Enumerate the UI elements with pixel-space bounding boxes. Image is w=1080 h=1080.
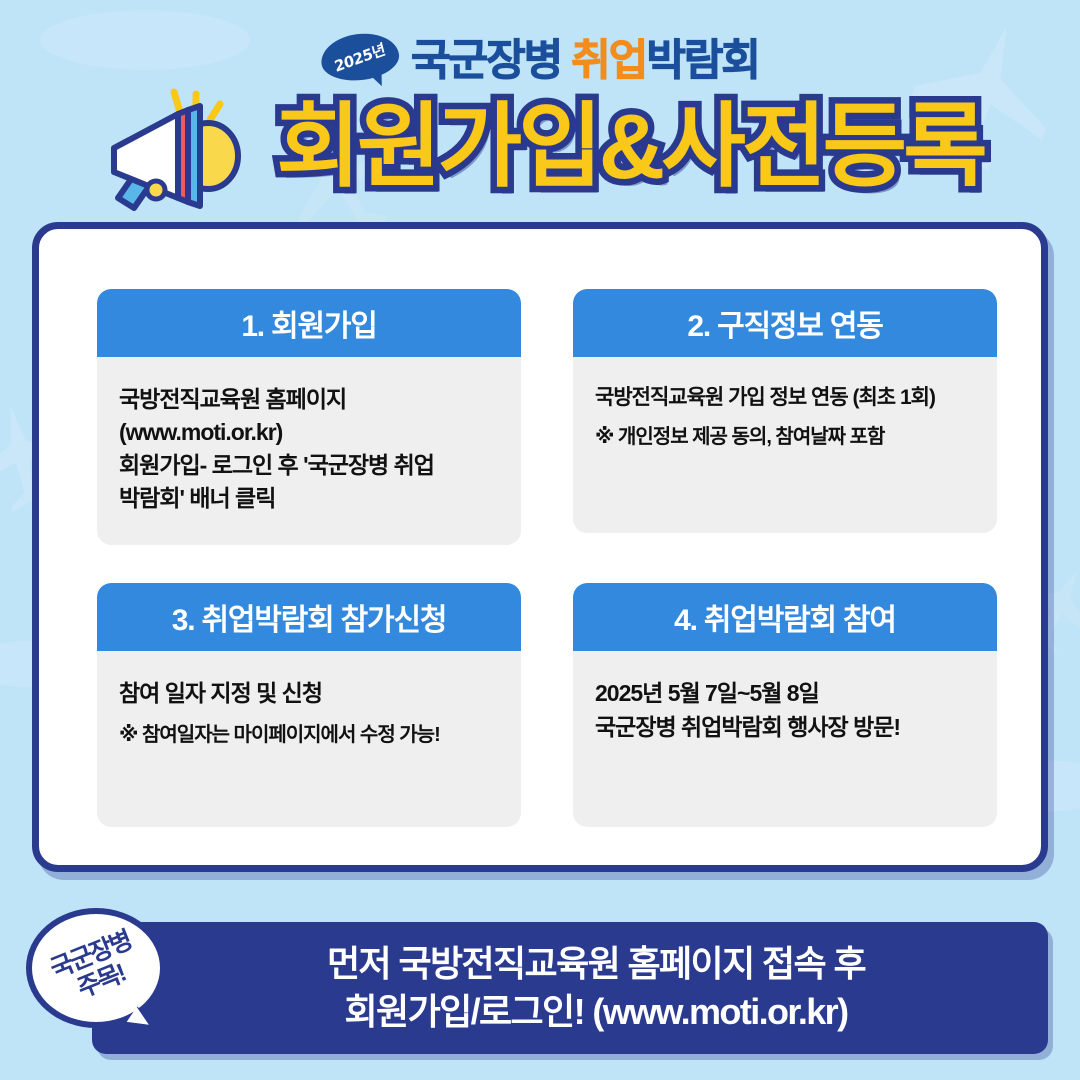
step-card-3-body: 참여 일자 지정 및 신청 ※ 참여일자는 마이페이지에서 수정 가능! — [97, 651, 521, 827]
year-badge-bubble: 2025년 — [318, 29, 401, 84]
step-card-4: 4. 취업박람회 참여 2025년 5월 7일~5월 8일 국군장병 취업박람회… — [573, 583, 997, 827]
event-name-prefix: 국군장병 — [411, 37, 571, 85]
step-card-2: 2. 구직정보 연동 국방전직교육원 가입 정보 연동 (최초 1회) ※ 개인… — [573, 289, 997, 545]
cta-banner-line-1: 먼저 국방전직교육원 홈페이지 접속 후 — [275, 940, 865, 988]
step-card-1-line-3: 회원가입- 로그인 후 '국군장병 취업 — [119, 449, 499, 482]
steps-grid: 1. 회원가입 국방전직교육원 홈페이지 (www.moti.or.kr) 회원… — [97, 289, 997, 827]
step-card-2-body: 국방전직교육원 가입 정보 연동 (최초 1회) ※ 개인정보 제공 동의, 참… — [573, 357, 997, 533]
page-title: 회원가입&사전등록 — [276, 99, 984, 196]
step-card-2-line-1: 국방전직교육원 가입 정보 연동 (최초 1회) — [595, 383, 975, 413]
step-card-1-line-4: 박람회' 배너 클릭 — [119, 482, 499, 515]
step-card-4-line-1: 2025년 5월 7일~5월 8일 — [595, 677, 975, 710]
event-name-suffix: 박람회 — [646, 37, 759, 85]
step-card-1-line-2: (www.moti.or.kr) — [119, 416, 499, 449]
attention-text: 국군장병 주목! — [47, 926, 146, 1009]
megaphone-icon — [96, 86, 272, 214]
step-card-1-title: 1. 회원가입 — [97, 289, 521, 357]
step-card-4-body: 2025년 5월 7일~5월 8일 국군장병 취업박람회 행사장 방문! — [573, 651, 997, 827]
attention-speech-bubble: 국군장병 주목! — [26, 908, 166, 1028]
cta-banner-line-2: 회원가입/로그인! (www.moti.or.kr) — [293, 988, 848, 1036]
step-card-2-title: 2. 구직정보 연동 — [573, 289, 997, 357]
poster-header: 2025년 국군장병 취업박람회 회원가입&사전등록 — [0, 0, 1080, 212]
event-name: 국군장병 취업박람회 — [411, 26, 759, 88]
step-card-3: 3. 취업박람회 참가신청 참여 일자 지정 및 신청 ※ 참여일자는 마이페이… — [97, 583, 521, 827]
step-card-1: 1. 회원가입 국방전직교육원 홈페이지 (www.moti.or.kr) 회원… — [97, 289, 521, 545]
eyebrow-row: 2025년 국군장병 취업박람회 — [0, 26, 1080, 88]
step-card-4-line-2: 국군장병 취업박람회 행사장 방문! — [595, 711, 975, 744]
step-card-3-title: 3. 취업박람회 참가신청 — [97, 583, 521, 651]
step-card-1-body: 국방전직교육원 홈페이지 (www.moti.or.kr) 회원가입- 로그인 … — [97, 357, 521, 545]
step-card-3-note: ※ 참여일자는 마이페이지에서 수정 가능! — [119, 721, 499, 750]
step-card-2-note: ※ 개인정보 제공 동의, 참여날짜 포함 — [595, 423, 975, 452]
poster-footer: 국군장병 주목! 먼저 국방전직교육원 홈페이지 접속 후 회원가입/로그인! … — [0, 900, 1080, 1080]
main-title-row: 회원가입&사전등록 — [0, 80, 1080, 214]
event-name-highlight: 취업 — [571, 37, 646, 85]
step-card-4-title: 4. 취업박람회 참여 — [573, 583, 997, 651]
step-card-1-line-1: 국방전직교육원 홈페이지 — [119, 383, 499, 416]
step-card-3-line-1: 참여 일자 지정 및 신청 — [119, 677, 499, 710]
steps-panel: 1. 회원가입 국방전직교육원 홈페이지 (www.moti.or.kr) 회원… — [32, 222, 1048, 872]
cta-banner: 먼저 국방전직교육원 홈페이지 접속 후 회원가입/로그인! (www.moti… — [92, 922, 1048, 1054]
year-badge-label: 2025년 — [333, 38, 388, 77]
